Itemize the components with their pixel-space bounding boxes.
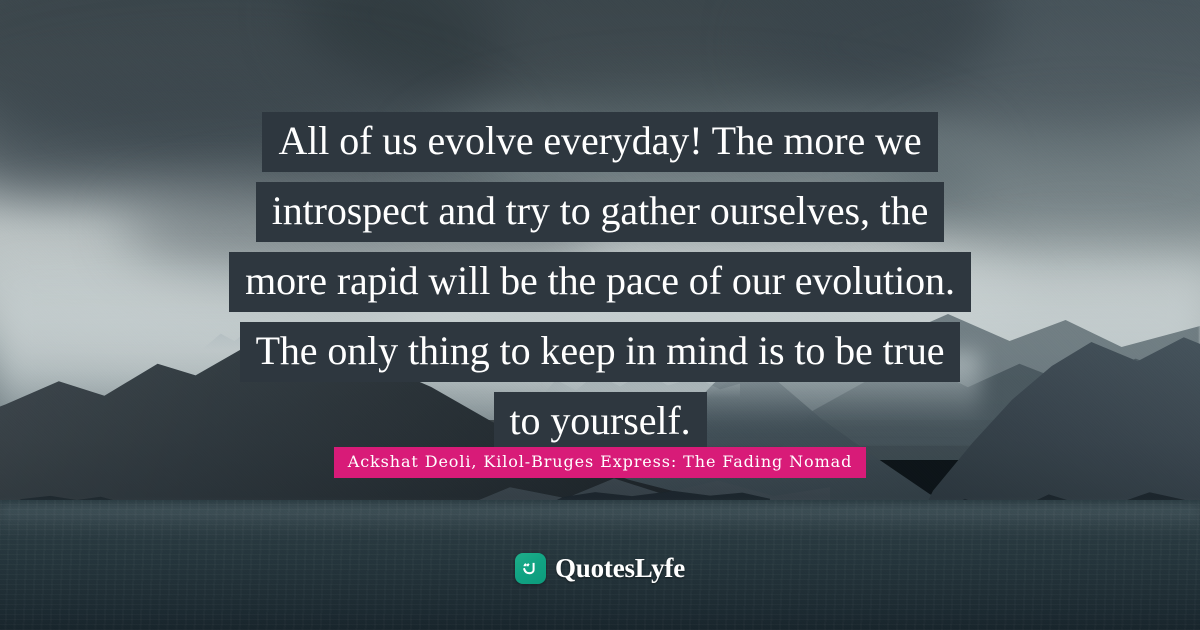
quote-line: introspect and try to gather ourselves, … — [0, 182, 1200, 242]
quote-line-text: introspect and try to gather ourselves, … — [256, 182, 945, 242]
site-logo[interactable]: QuotesLyfe — [0, 553, 1200, 584]
attribution-badge[interactable]: Ackshat Deoli, Kilol-Bruges Express: The… — [334, 447, 867, 478]
quote-line: to yourself. — [0, 392, 1200, 452]
logo-wordmark: QuotesLyfe — [555, 555, 685, 582]
quote-line-text: All of us evolve everyday! The more we — [262, 112, 937, 172]
attribution: Ackshat Deoli, Kilol-Bruges Express: The… — [0, 447, 1200, 478]
quote-line-text: more rapid will be the pace of our evolu… — [229, 252, 971, 312]
quote-card: All of us evolve everyday! The more we i… — [0, 0, 1200, 630]
quote-line: The only thing to keep in mind is to be … — [0, 322, 1200, 382]
quote-text: All of us evolve everyday! The more we i… — [0, 112, 1200, 462]
quote-smiley-icon — [515, 553, 546, 584]
quote-line: more rapid will be the pace of our evolu… — [0, 252, 1200, 312]
quote-line-text: to yourself. — [494, 392, 707, 452]
quote-line-text: The only thing to keep in mind is to be … — [240, 322, 961, 382]
quote-line: All of us evolve everyday! The more we — [0, 112, 1200, 172]
